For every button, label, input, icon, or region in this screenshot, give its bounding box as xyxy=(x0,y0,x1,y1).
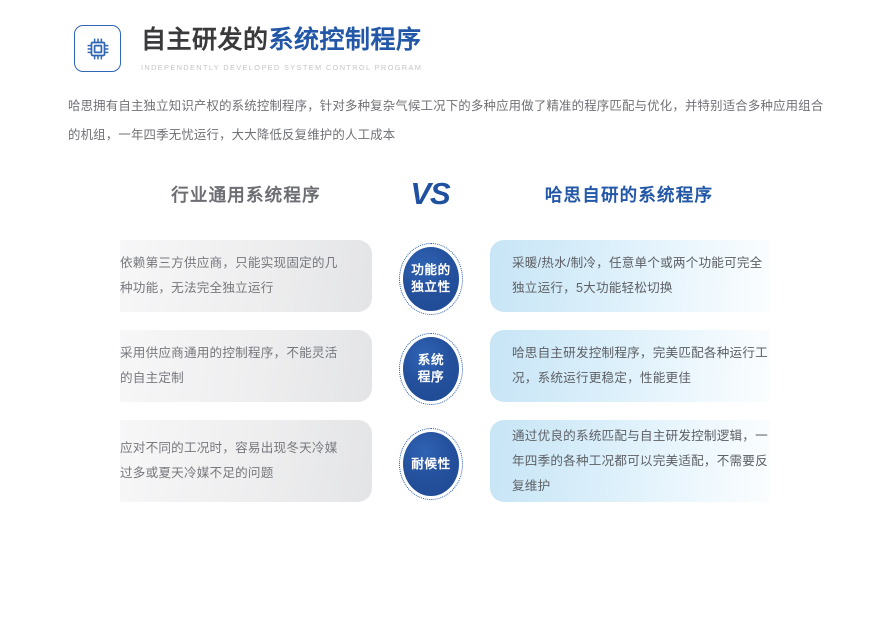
comparison-card-left-text: 应对不同的工况时，容易出现冬天冷媒过多或夏天冷媒不足的问题 xyxy=(120,436,350,486)
comparison-row: 依赖第三方供应商，只能实现固定的几种功能，无法完全独立运行 功能的独立性 采暖/… xyxy=(0,240,890,330)
page-subtitle: INDEPENDENTLY DEVELOPED SYSTEM CONTROL P… xyxy=(141,63,422,72)
comparison-card-left-text: 采用供应商通用的控制程序，不能灵活的自主定制 xyxy=(120,341,350,391)
section-header: 自主研发的系统控制程序 INDEPENDENTLY DEVELOPED SYST… xyxy=(74,22,422,72)
cpu-chip-icon xyxy=(74,25,121,72)
comparison-card-right: 采暖/热水/制冷，任意单个或两个功能可完全独立运行，5大功能轻松切换 xyxy=(490,240,770,312)
header-text-block: 自主研发的系统控制程序 INDEPENDENTLY DEVELOPED SYST… xyxy=(141,22,422,72)
comparison-heading-left: 行业通用系统程序 xyxy=(120,182,372,207)
comparison-card-left-text: 依赖第三方供应商，只能实现固定的几种功能，无法完全独立运行 xyxy=(120,251,350,301)
comparison-card-right-text: 采暖/热水/制冷，任意单个或两个功能可完全独立运行，5大功能轻松切换 xyxy=(512,251,770,301)
page-title-plain: 自主研发的 xyxy=(141,26,269,54)
badge-label-line2: 独立性 xyxy=(411,280,451,294)
badge-label-line1: 功能的 xyxy=(411,263,451,277)
comparison-card-right-text: 哈思自主研发控制程序，完美匹配各种运行工况，系统运行更稳定，性能更佳 xyxy=(512,341,770,391)
comparison-badge-label: 功能的独立性 xyxy=(411,262,451,296)
comparison-badge: 耐候性 xyxy=(396,420,466,508)
comparison-card-right-text: 通过优良的系统匹配与自主研发控制逻辑，一年四季的各种工况都可以完美适配，不需要反… xyxy=(512,424,770,499)
badge-label-line2: 程序 xyxy=(418,370,444,384)
comparison-badge-label: 耐候性 xyxy=(411,456,451,473)
comparison-card-right: 哈思自主研发控制程序，完美匹配各种运行工况，系统运行更稳定，性能更佳 xyxy=(490,330,770,402)
comparison-card-left: 应对不同的工况时，容易出现冬天冷媒过多或夏天冷媒不足的问题 xyxy=(120,420,372,502)
comparison-headings: 行业通用系统程序 VS 哈思自研的系统程序 xyxy=(0,176,890,218)
comparison-badge: 功能的独立性 xyxy=(396,240,466,318)
vs-label: VS xyxy=(398,176,462,212)
comparison-badge-label: 系统程序 xyxy=(418,352,444,386)
intro-paragraph: 哈思拥有自主独立知识产权的系统控制程序，针对多种复杂气候工况下的多种应用做了精准… xyxy=(68,92,828,150)
comparison-card-left: 依赖第三方供应商，只能实现固定的几种功能，无法完全独立运行 xyxy=(120,240,372,312)
comparison-rows: 依赖第三方供应商，只能实现固定的几种功能，无法完全独立运行 功能的独立性 采暖/… xyxy=(0,240,890,520)
page-title-accent: 系统控制程序 xyxy=(269,26,422,54)
page-title: 自主研发的系统控制程序 xyxy=(141,24,422,56)
comparison-row: 采用供应商通用的控制程序，不能灵活的自主定制 系统程序 哈思自主研发控制程序，完… xyxy=(0,330,890,420)
comparison-card-left: 采用供应商通用的控制程序，不能灵活的自主定制 xyxy=(120,330,372,402)
comparison-heading-right: 哈思自研的系统程序 xyxy=(488,182,770,207)
comparison-card-right: 通过优良的系统匹配与自主研发控制逻辑，一年四季的各种工况都可以完美适配，不需要反… xyxy=(490,420,770,502)
comparison-badge: 系统程序 xyxy=(396,330,466,408)
comparison-row: 应对不同的工况时，容易出现冬天冷媒过多或夏天冷媒不足的问题 耐候性 通过优良的系… xyxy=(0,420,890,520)
page-root: 自主研发的系统控制程序 INDEPENDENTLY DEVELOPED SYST… xyxy=(0,0,890,620)
badge-label-line1: 耐候性 xyxy=(411,457,451,471)
badge-label-line1: 系统 xyxy=(418,353,444,367)
